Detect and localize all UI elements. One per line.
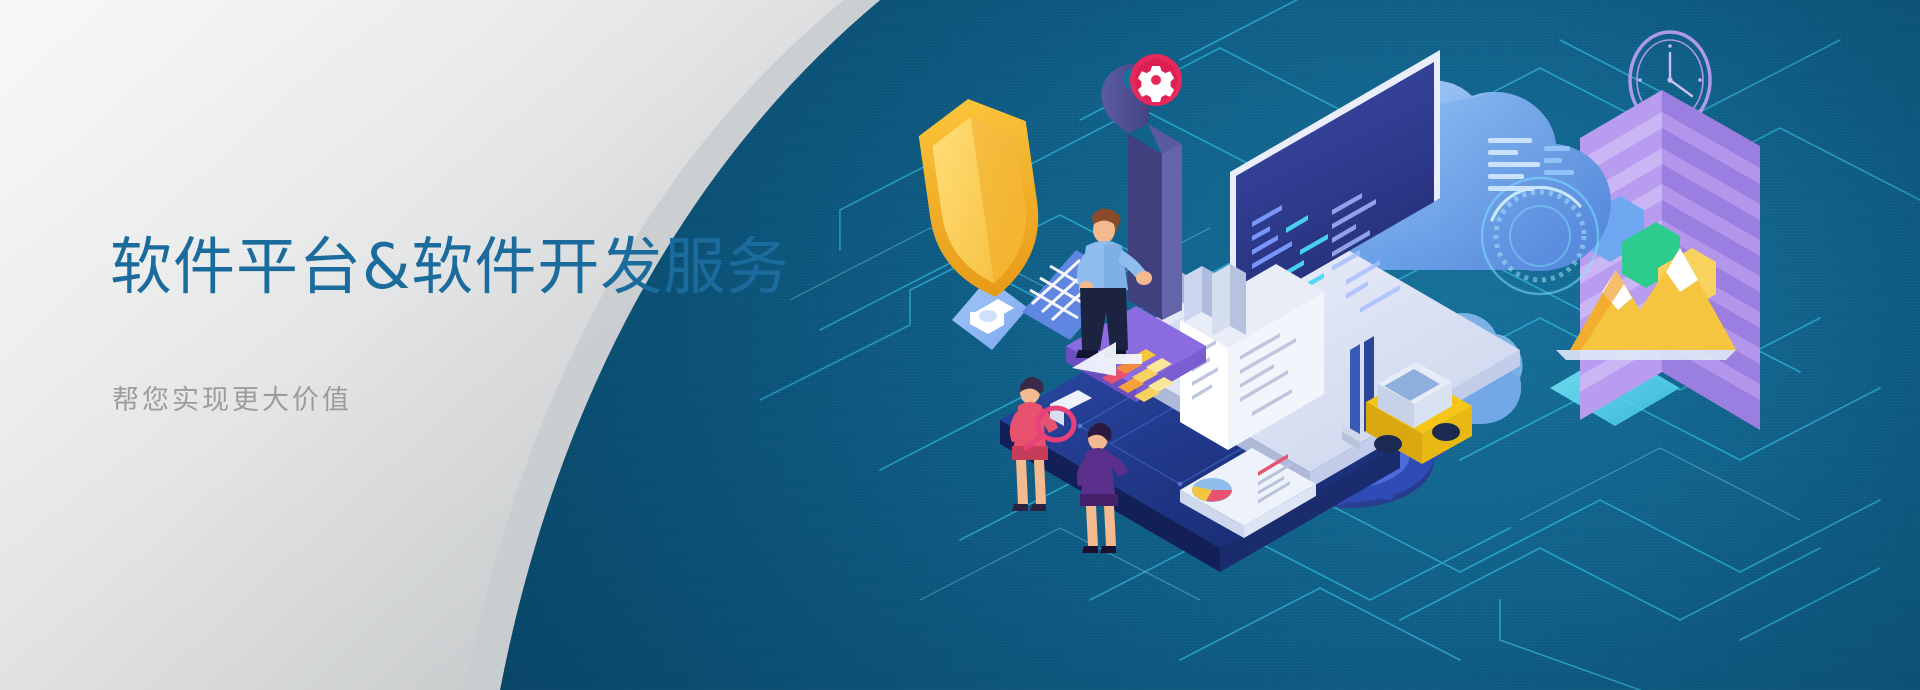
hero-illustration: [880, 20, 1920, 690]
gear-badge-icon: [1130, 54, 1182, 106]
page-subtitle: 帮您实现更大价值: [112, 378, 352, 417]
page-title: 软件平台&软件开发服务: [110, 216, 789, 306]
dashboard-panel: [1580, 88, 1762, 430]
shield-icon: [915, 91, 1050, 304]
left-panel: [0, 0, 900, 690]
hero-banner: 软件平台&软件开发服务 帮您实现更大价值: [0, 0, 1920, 690]
